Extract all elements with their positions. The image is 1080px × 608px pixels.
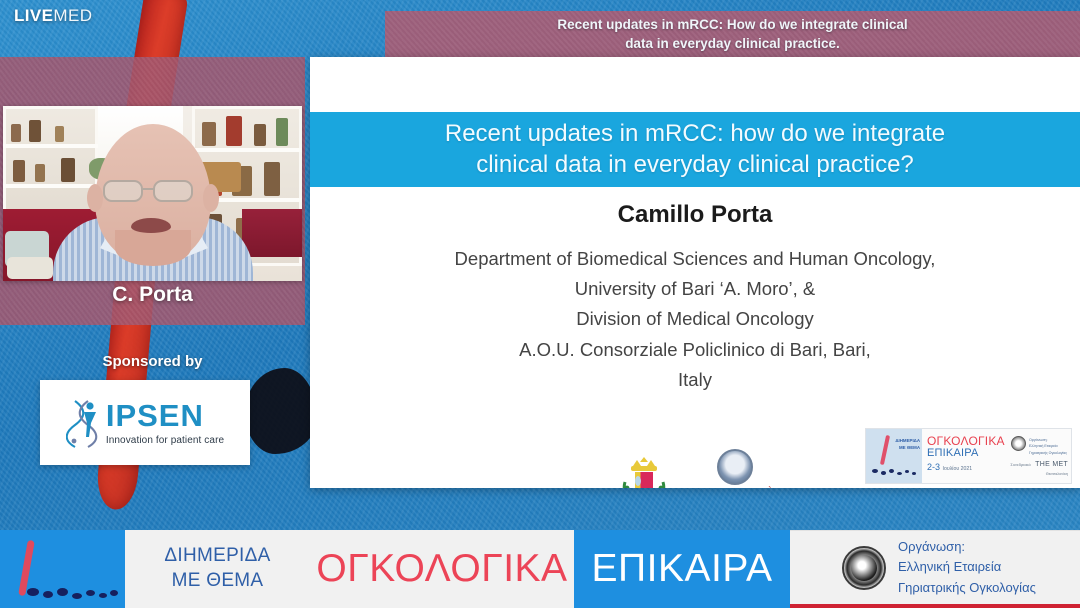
bari-hospital-crest-icon bbox=[615, 456, 673, 489]
session-title-line2: data in everyday clinical practice. bbox=[557, 34, 907, 53]
slide-title-line1: Recent updates in mRCC: how do we integr… bbox=[445, 119, 945, 150]
event-badge-mini: ΔΙΗΜΕΡΙΔΑ ΜΕ ΘΕΜΑ ΟΓΚΟΛΟΓΙΚΑ ΕΠΙΚΑΙΡΑ 2-… bbox=[865, 428, 1072, 484]
event-badge-mini-org: Οργάνωση: Ελληνική Εταιρεία Γηριατρικής … bbox=[1009, 429, 1071, 483]
livemed-logo-light: MED bbox=[53, 6, 92, 25]
badge-society-seal-icon bbox=[1011, 436, 1026, 451]
footer-keyword-epikaira: ΕΠΙΚΑΙΡΑ bbox=[574, 530, 790, 608]
badge-date-number: 2-3 bbox=[927, 462, 940, 472]
ipsen-helix-icon bbox=[66, 397, 100, 449]
badge-date: 2-3 Ιουλίου 2021 bbox=[927, 462, 1006, 472]
footer-theme-label: ΔΙΗΜΕΡΙΔΑ ΜΕ ΘΕΜΑ bbox=[122, 530, 310, 608]
eyeglasses-right-lens bbox=[153, 180, 193, 202]
sofa-right bbox=[242, 209, 302, 257]
livemed-logo-strong: LIVE bbox=[14, 6, 53, 25]
slide-author: Camillo Porta bbox=[310, 195, 1080, 234]
eyeglasses-bridge bbox=[143, 188, 155, 190]
university-line1: UNIVERSITÀ bbox=[695, 487, 775, 488]
badge-venue-name: THE MET bbox=[1035, 461, 1068, 468]
slide-body: Camillo Porta Department of Biomedical S… bbox=[310, 195, 1080, 395]
session-title-line1: Recent updates in mRCC: How do we integr… bbox=[557, 15, 907, 34]
ipsen-logo: IPSEN Innovation for patient care bbox=[66, 397, 224, 449]
event-footer-banner: ΔΙΗΜΕΡΙΔΑ ΜΕ ΘΕΜΑ ΟΓΚΟΛΟΓΙΚΑ ΕΠΙΚΑΙΡΑ Ορ… bbox=[0, 530, 1080, 608]
badge-theme-line2: ΜΕ ΘΕΜΑ bbox=[895, 445, 920, 452]
footer-org-line1: Οργάνωση: bbox=[898, 537, 1036, 557]
badge-theme-text: ΔΙΗΜΕΡΙΔΑ ΜΕ ΘΕΜΑ bbox=[895, 438, 920, 451]
webcam-video-feed[interactable] bbox=[3, 106, 302, 281]
footer-artwork-corner bbox=[0, 530, 122, 608]
footer-keyword-oncologika: ΟΓΚΟΛΟΓΙΚΑ bbox=[310, 530, 574, 608]
event-badge-mini-art: ΔΙΗΜΕΡΙΔΑ ΜΕ ΘΕΜΑ bbox=[866, 429, 922, 483]
ipsen-wordmark: IPSEN Innovation for patient care bbox=[106, 400, 224, 446]
university-seal-icon bbox=[717, 449, 753, 485]
ipsen-tagline: Innovation for patient care bbox=[106, 436, 224, 446]
speaker-mouth bbox=[131, 218, 171, 233]
badge-venue-city: Θεσσαλονίκη bbox=[1010, 472, 1068, 477]
footer-theme-line2: ΜΕ ΘΕΜΑ bbox=[164, 569, 270, 594]
badge-theme-line1: ΔΙΗΜΕΡΙΔΑ bbox=[895, 438, 920, 445]
slide-title-line2: clinical data in everyday clinical pract… bbox=[445, 150, 945, 181]
livemed-logo: LIVEMED bbox=[14, 6, 92, 26]
slide-title-text: Recent updates in mRCC: how do we integr… bbox=[445, 119, 945, 180]
speaker-chin bbox=[115, 230, 191, 266]
cushion-two bbox=[7, 257, 53, 279]
footer-organizer: Οργάνωση: Ελληνική Εταιρεία Γηριατρικής … bbox=[790, 530, 1080, 608]
badge-venue: Συνεδριακό THE MET Θεσσαλονίκη bbox=[1010, 452, 1068, 477]
speaker-name-label: C. Porta bbox=[0, 283, 305, 307]
speaker-ear-left bbox=[87, 184, 103, 212]
dark-blob-shape bbox=[245, 368, 317, 454]
ipsen-name: IPSEN bbox=[106, 400, 224, 431]
session-title-bar: Recent updates in mRCC: How do we integr… bbox=[385, 11, 1080, 57]
footer-organizer-text: Οργάνωση: Ελληνική Εταιρεία Γηριατρικής … bbox=[898, 537, 1036, 597]
badge-red-stroke bbox=[880, 435, 890, 465]
badge-venue-pre: Συνεδριακό bbox=[1010, 462, 1030, 467]
slide-affiliation-1: Department of Biomedical Sciences and Hu… bbox=[310, 244, 1080, 274]
speaker-ear-right bbox=[203, 184, 219, 212]
badge-date-text: Ιουλίου 2021 bbox=[943, 466, 973, 472]
slide-title-banner: Recent updates in mRCC: how do we integr… bbox=[310, 112, 1080, 187]
slide-affiliation-2: University of Bari ‘A. Moro’, & bbox=[310, 274, 1080, 304]
university-of-bari-logo: UNIVERSITÀ DEGLI STUDI DI BARI ALDO MORO bbox=[695, 449, 775, 488]
eyeglasses-left-lens bbox=[103, 180, 143, 202]
webcam-room-background bbox=[3, 106, 302, 281]
badge-keyword-epikaira: ΕΠΙΚΑΙΡΑ bbox=[927, 447, 1006, 459]
slide-affiliation-4: A.O.U. Consorziale Policlinico di Bari, … bbox=[310, 335, 1080, 365]
greek-geriatric-oncology-seal-icon bbox=[842, 546, 886, 590]
sponsored-by-label: Sponsored by bbox=[0, 353, 305, 370]
session-title-text: Recent updates in mRCC: How do we integr… bbox=[557, 15, 907, 53]
presentation-slide[interactable]: Recent updates in mRCC: how do we integr… bbox=[310, 57, 1080, 488]
slide-affiliation-3: Division of Medical Oncology bbox=[310, 304, 1080, 334]
slide-affiliation-5: Italy bbox=[310, 365, 1080, 395]
event-badge-mini-keywords: ΟΓΚΟΛΟΓΙΚΑ ΕΠΙΚΑΙΡΑ 2-3 Ιουλίου 2021 bbox=[922, 429, 1009, 483]
bookshelf-left bbox=[3, 106, 98, 226]
footer-org-line3: Γηριατρικής Ογκολογίας bbox=[898, 578, 1036, 598]
footer-theme-line1: ΔΙΗΜΕΡΙΔΑ bbox=[164, 544, 270, 569]
footer-org-line2: Ελληνική Εταιρεία bbox=[898, 557, 1036, 577]
sponsor-logo-box[interactable]: IPSEN Innovation for patient care bbox=[40, 380, 250, 465]
badge-keyword-oncologika: ΟΓΚΟΛΟΓΙΚΑ bbox=[927, 435, 1006, 447]
